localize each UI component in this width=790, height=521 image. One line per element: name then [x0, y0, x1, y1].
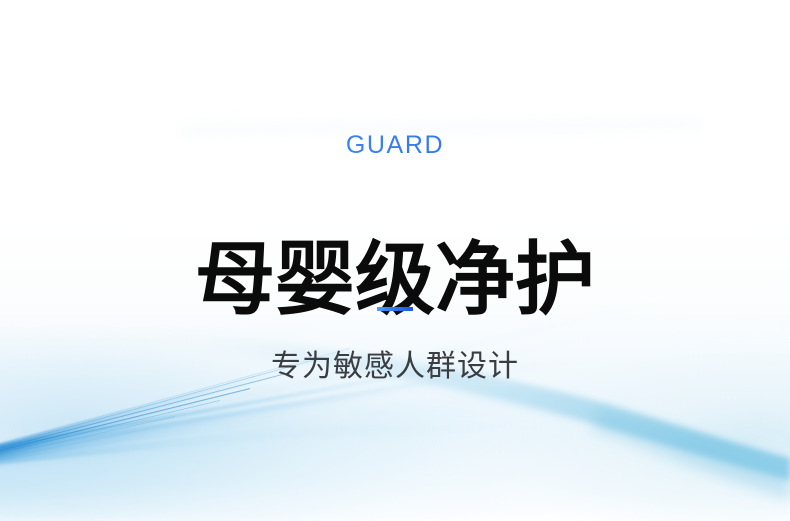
promo-banner: GUARD 母婴级净护 专为敏感人群设计: [0, 0, 790, 521]
banner-divider: [377, 307, 413, 311]
banner-content: GUARD 母婴级净护 专为敏感人群设计: [0, 0, 790, 521]
banner-subheadline: 专为敏感人群设计: [0, 350, 790, 383]
banner-eyebrow-guard: GUARD: [0, 133, 790, 158]
